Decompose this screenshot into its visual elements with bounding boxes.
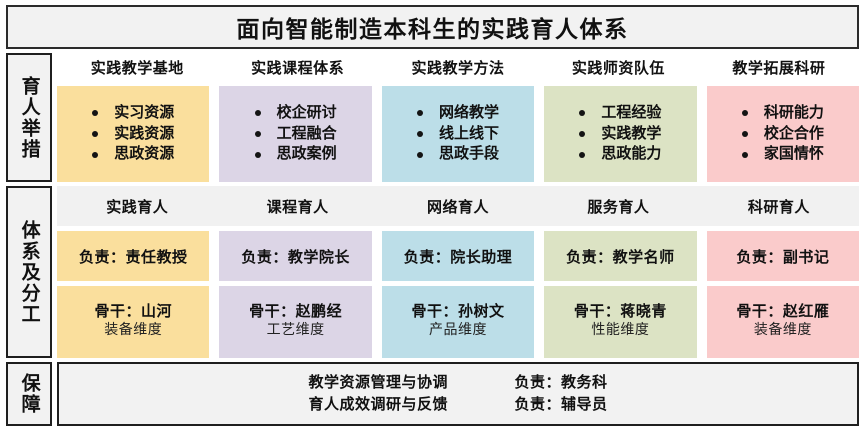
measure-text: 思政能力 — [601, 144, 661, 165]
duty-box-0: 负责：责任教授 — [57, 231, 209, 281]
measure-item: 思政案例 — [255, 144, 337, 165]
measure-text: 工程融合 — [277, 124, 337, 145]
guarantee-task: 教学资源管理与协调 — [308, 372, 478, 395]
diagram-body: 育人举措 实践教学基地 实践课程体系 实践教学方法 实践师资队伍 教学拓展科研 … — [6, 53, 859, 426]
measure-text: 思政案例 — [277, 144, 337, 165]
core-name: 骨干：赵红雁 — [736, 303, 829, 323]
bullet-dot-icon — [742, 131, 748, 137]
guarantee-row: 育人成效调研与反馈 负责：辅导员 — [308, 394, 607, 417]
bullet-dot-icon — [579, 152, 585, 158]
duty-box-3: 负责：教学名师 — [544, 231, 696, 281]
measures-box-3: 工程经验 实践教学 思政能力 — [544, 86, 696, 182]
measures-box-0: 实习资源 实践资源 思政资源 — [57, 86, 209, 182]
bullet-dot-icon — [417, 131, 423, 137]
column-header-3: 实践师资队伍 — [538, 57, 698, 78]
section-guarantee-content: 教学资源管理与协调 负责：教务科 育人成效调研与反馈 负责：辅导员 — [57, 362, 859, 426]
section-system-division: 体系及分工 实践育人 课程育人 网络育人 服务育人 科研育人 负责：责任教授 负… — [6, 186, 859, 358]
core-dimension: 性能维度 — [591, 322, 649, 341]
measure-text: 科研能力 — [764, 103, 824, 124]
section-measures: 育人举措 实践教学基地 实践课程体系 实践教学方法 实践师资队伍 教学拓展科研 … — [6, 53, 859, 182]
core-name: 骨干：蒋晓青 — [574, 303, 667, 323]
measure-item: 工程经验 — [579, 103, 661, 124]
diagram-title-bar: 面向智能制造本科生的实践育人体系 — [6, 5, 859, 49]
measure-text: 实习资源 — [114, 103, 174, 124]
bullet-dot-icon — [742, 110, 748, 116]
core-box-0: 骨干：山河 装备维度 — [57, 286, 209, 358]
column-header-4: 教学拓展科研 — [699, 57, 859, 78]
core-dimension: 装备维度 — [104, 322, 162, 341]
bullet-dot-icon — [92, 152, 98, 158]
system-cell-1: 课程育人 — [217, 196, 377, 217]
section-label-guarantee: 保障 — [6, 362, 52, 426]
measure-item: 科研能力 — [742, 103, 824, 124]
section-label-system: 体系及分工 — [6, 186, 52, 358]
page-title: 面向智能制造本科生的实践育人体系 — [237, 10, 629, 44]
practice-education-system-diagram: 面向智能制造本科生的实践育人体系 育人举措 实践教学基地 实践课程体系 实践教学… — [0, 0, 865, 427]
section-guarantee: 保障 教学资源管理与协调 负责：教务科 育人成效调研与反馈 负责：辅导员 — [6, 362, 859, 426]
duty-box-1: 负责：教学院长 — [219, 231, 371, 281]
measure-item: 校企合作 — [742, 124, 824, 145]
duty-row: 负责：责任教授 负责：教学院长 负责：院长助理 负责：教学名师 负责：副书记 — [57, 231, 859, 281]
system-cell-4: 科研育人 — [699, 196, 859, 217]
column-headers-row: 实践教学基地 实践课程体系 实践教学方法 实践师资队伍 教学拓展科研 — [57, 53, 859, 81]
measures-box-1: 校企研讨 工程融合 思政案例 — [219, 86, 371, 182]
column-header-0: 实践教学基地 — [57, 57, 217, 78]
bullet-dot-icon — [255, 152, 261, 158]
column-header-1: 实践课程体系 — [217, 57, 377, 78]
guarantee-row: 教学资源管理与协调 负责：教务科 — [308, 372, 607, 395]
measure-item: 校企研讨 — [255, 103, 337, 124]
bullet-dot-icon — [255, 110, 261, 116]
measure-item: 实习资源 — [92, 103, 174, 124]
core-dimension: 工艺维度 — [267, 322, 325, 341]
section-label-measures-text: 育人举措 — [18, 76, 39, 160]
core-dimension: 装备维度 — [754, 322, 812, 341]
section-label-system-text: 体系及分工 — [18, 220, 39, 325]
section-label-guarantee-text: 保障 — [18, 373, 39, 415]
duty-box-2: 负责：院长助理 — [382, 231, 534, 281]
column-header-2: 实践教学方法 — [378, 57, 538, 78]
measure-item: 实践教学 — [579, 124, 661, 145]
measure-text: 思政手段 — [439, 144, 499, 165]
measure-item: 思政能力 — [579, 144, 661, 165]
bullet-dot-icon — [255, 131, 261, 137]
measure-item: 网络教学 — [417, 103, 499, 124]
guarantee-owner: 负责：辅导员 — [514, 394, 607, 417]
core-box-3: 骨干：蒋晓青 性能维度 — [544, 286, 696, 358]
core-member-row: 骨干：山河 装备维度 骨干：赵鹏经 工艺维度 骨干：孙树文 产品维度 骨干：蒋晓… — [57, 286, 859, 358]
bullet-dot-icon — [579, 110, 585, 116]
system-strip: 实践育人 课程育人 网络育人 服务育人 科研育人 — [57, 186, 859, 226]
bullet-dot-icon — [92, 110, 98, 116]
measure-item: 实践资源 — [92, 124, 174, 145]
bullet-dot-icon — [742, 152, 748, 158]
measure-text: 工程经验 — [601, 103, 661, 124]
measure-item: 思政手段 — [417, 144, 499, 165]
core-box-1: 骨干：赵鹏经 工艺维度 — [219, 286, 371, 358]
measure-item: 工程融合 — [255, 124, 337, 145]
measure-text: 线上线下 — [439, 124, 499, 145]
measure-text: 校企研讨 — [277, 103, 337, 124]
measure-text: 思政资源 — [114, 144, 174, 165]
core-name: 骨干：孙树文 — [412, 303, 505, 323]
measure-text: 实践教学 — [601, 124, 661, 145]
measures-box-4: 科研能力 校企合作 家国情怀 — [707, 86, 859, 182]
measure-text: 网络教学 — [439, 103, 499, 124]
guarantee-panel: 教学资源管理与协调 负责：教务科 育人成效调研与反馈 负责：辅导员 — [57, 362, 859, 426]
measure-item: 家国情怀 — [742, 144, 824, 165]
measure-text: 实践资源 — [114, 124, 174, 145]
bullet-dot-icon — [579, 131, 585, 137]
core-name: 骨干：赵鹏经 — [249, 303, 342, 323]
system-cell-2: 网络育人 — [378, 196, 538, 217]
bullet-dot-icon — [92, 131, 98, 137]
measure-item: 线上线下 — [417, 124, 499, 145]
core-name: 骨干：山河 — [94, 303, 172, 323]
bullet-dot-icon — [417, 152, 423, 158]
system-cell-0: 实践育人 — [57, 196, 217, 217]
measures-row: 实习资源 实践资源 思政资源 校企研讨 工程融合 思政案例 网络教学 线上线下 … — [57, 86, 859, 182]
core-dimension: 产品维度 — [429, 322, 487, 341]
guarantee-owner: 负责：教务科 — [514, 372, 607, 395]
section-system-content: 实践育人 课程育人 网络育人 服务育人 科研育人 负责：责任教授 负责：教学院长… — [57, 186, 859, 358]
core-box-2: 骨干：孙树文 产品维度 — [382, 286, 534, 358]
measure-text: 校企合作 — [764, 124, 824, 145]
core-box-4: 骨干：赵红雁 装备维度 — [707, 286, 859, 358]
measure-text: 家国情怀 — [764, 144, 824, 165]
system-cell-3: 服务育人 — [538, 196, 698, 217]
measure-item: 思政资源 — [92, 144, 174, 165]
section-label-measures: 育人举措 — [6, 53, 52, 182]
duty-box-4: 负责：副书记 — [707, 231, 859, 281]
measures-box-2: 网络教学 线上线下 思政手段 — [382, 86, 534, 182]
guarantee-task: 育人成效调研与反馈 — [308, 394, 478, 417]
section-measures-content: 实践教学基地 实践课程体系 实践教学方法 实践师资队伍 教学拓展科研 实习资源 … — [57, 53, 859, 182]
bullet-dot-icon — [417, 110, 423, 116]
